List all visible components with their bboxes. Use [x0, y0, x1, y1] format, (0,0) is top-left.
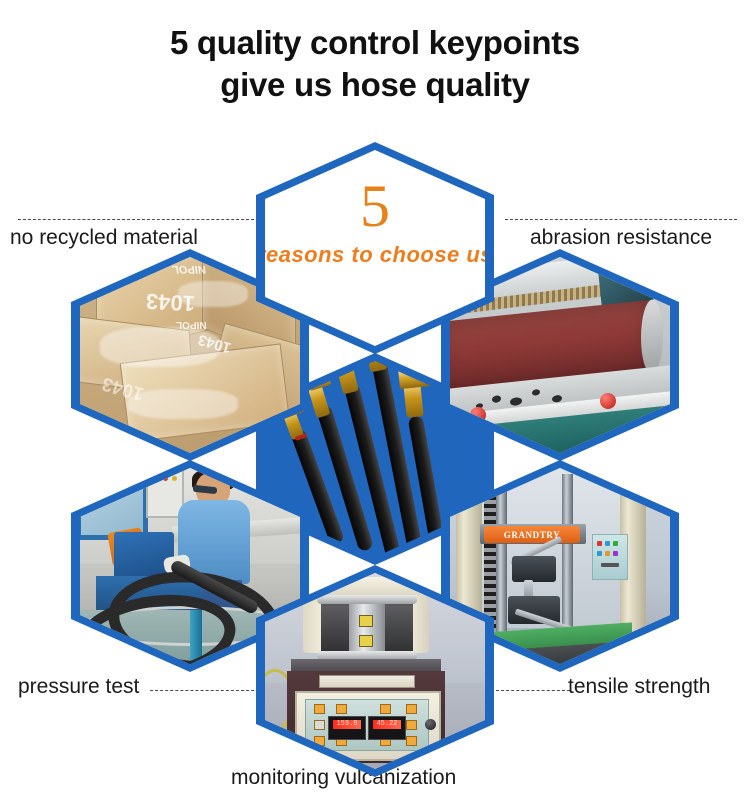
photo-rheometer: 159.9 45.22	[265, 573, 485, 769]
poster-canvas: 5 quality control keypoints give us hose…	[0, 0, 750, 800]
led-display-right: 45.22	[368, 716, 406, 740]
hose-fitting-nut	[334, 361, 361, 366]
plastic-wrap-gloss	[178, 281, 248, 307]
dashed-line-top-left	[18, 219, 254, 220]
red-knob-icon	[470, 407, 486, 423]
hose-fitting-nut	[307, 372, 332, 391]
red-knob-icon	[600, 393, 616, 409]
chamber-ring	[317, 595, 417, 604]
hose-fitting	[308, 384, 331, 419]
plastic-wrap-gloss	[128, 389, 238, 419]
hex-photo-vulcanization: 159.9 45.22	[265, 573, 485, 769]
upper-grip	[512, 556, 556, 582]
label-tensile-strength: tensile strength	[568, 675, 710, 699]
machine-post-left	[496, 474, 507, 650]
hex-center-inner: 5 reasons to choose us	[265, 150, 485, 346]
chamber-piston	[349, 603, 385, 655]
label-monitoring-vulcanization: monitoring vulcanization	[231, 766, 456, 790]
warning-label-icon	[359, 635, 373, 647]
led-display-left: 159.9	[328, 716, 366, 740]
warning-label-icon	[359, 615, 373, 627]
nameplate	[319, 675, 415, 688]
hose-fitting	[335, 361, 359, 394]
led-value-left: 159.9	[333, 720, 361, 729]
bale-mark: NIPOL	[171, 263, 206, 275]
page-title: 5 quality control keypoints give us hose…	[0, 22, 750, 106]
label-pressure-test: pressure test	[18, 675, 139, 699]
panel-knob	[425, 719, 436, 730]
control-panel-screen: 159.9 45.22	[305, 699, 429, 751]
title-line-2: give us hose quality	[0, 64, 750, 106]
center-number: 5	[265, 176, 485, 236]
rheometer-cap	[303, 577, 429, 595]
wall-poster	[592, 534, 628, 580]
machine-knob	[626, 259, 650, 283]
hose-elbow-fitting	[398, 365, 442, 389]
plastic-wrap-gloss	[100, 327, 220, 367]
title-line-1: 5 quality control keypoints	[170, 24, 580, 61]
center-subtitle: reasons to choose us	[265, 242, 485, 268]
label-no-recycled-material: no recycled material	[10, 226, 198, 250]
label-abrasion-resistance: abrasion resistance	[530, 226, 712, 250]
brand-banner: GRANDTRY	[484, 526, 580, 543]
led-value-right: 45.22	[373, 720, 401, 729]
dashed-line-top-right	[505, 219, 737, 220]
